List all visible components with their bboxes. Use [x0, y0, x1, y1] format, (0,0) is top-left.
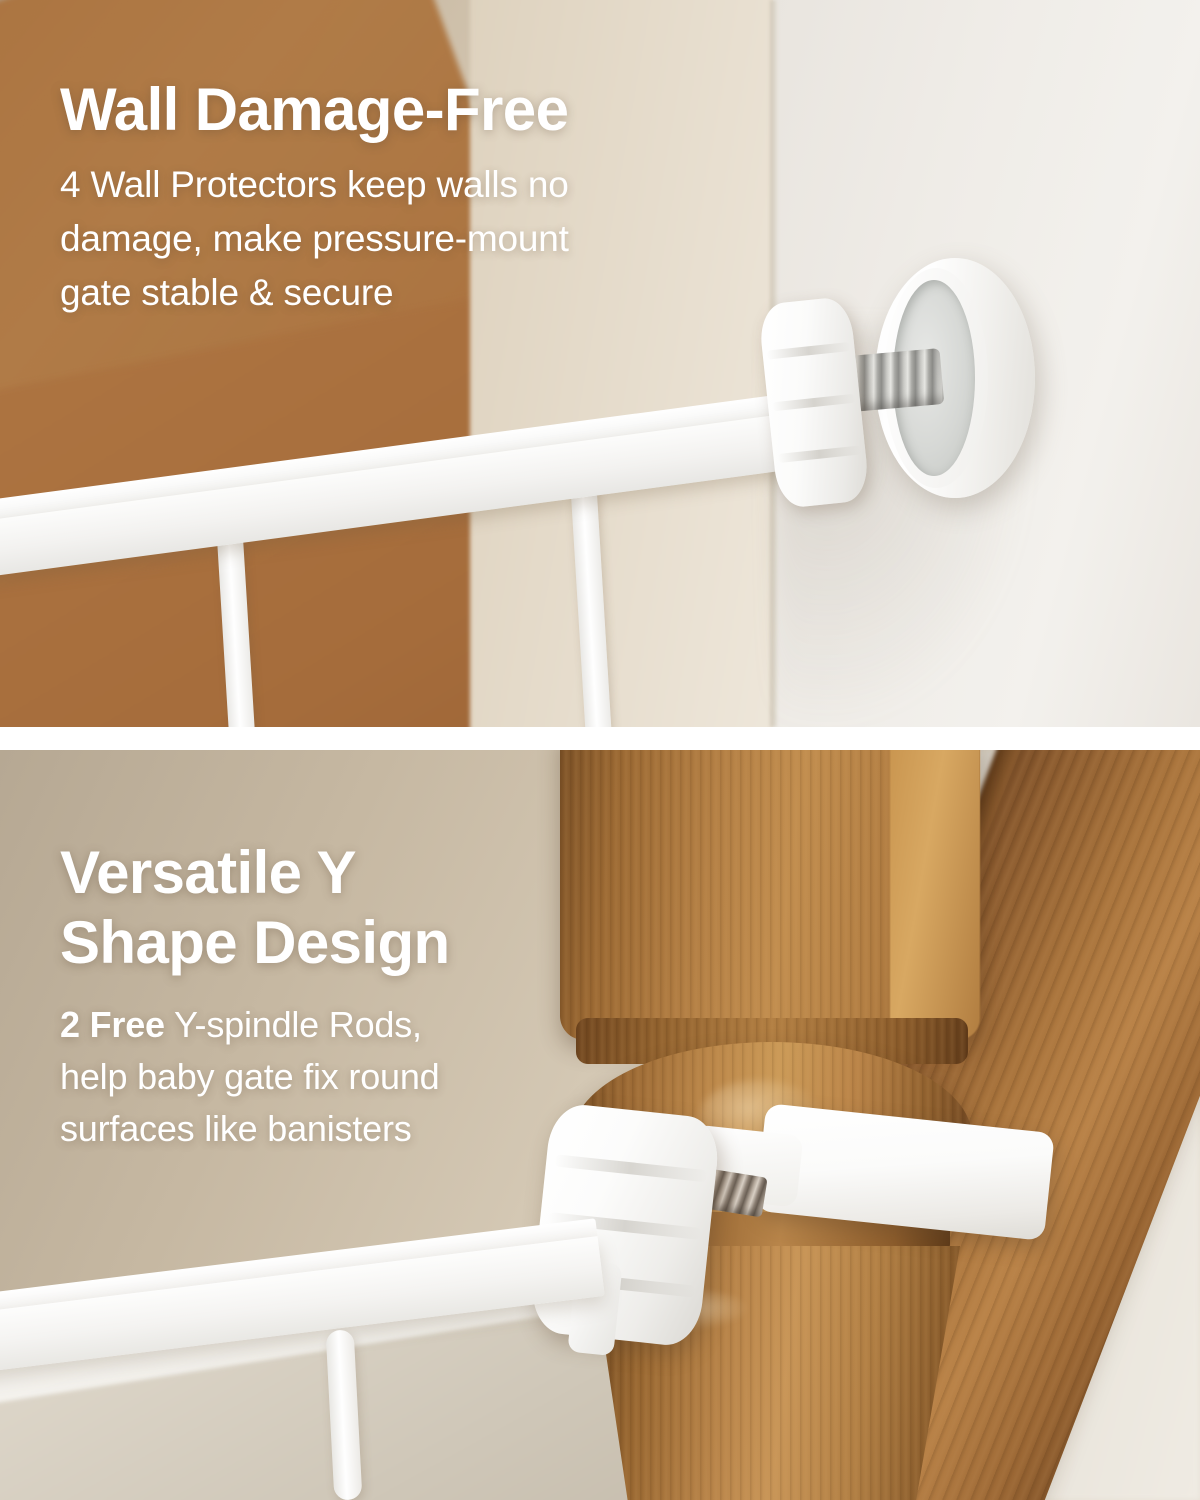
panel-wall-damage-free: Wall Damage-Free 4 Wall Protectors keep …	[0, 0, 1200, 727]
bottom-subtext: 2 Free Y-spindle Rods, help baby gate fi…	[60, 999, 660, 1154]
feature-graphic-page: Wall Damage-Free 4 Wall Protectors keep …	[0, 0, 1200, 1500]
top-text-block: Wall Damage-Free 4 Wall Protectors keep …	[60, 78, 780, 320]
top-headline: Wall Damage-Free	[60, 78, 780, 142]
threaded-bolt	[848, 348, 945, 412]
bottom-subtext-bold-lead: 2 Free	[60, 1004, 165, 1045]
top-subtext: 4 Wall Protectors keep walls no damage, …	[60, 158, 780, 320]
bottom-text-block: Versatile Y Shape Design 2 Free Y-spindl…	[60, 838, 660, 1155]
panel-divider	[0, 727, 1200, 750]
newel-post-bevel	[890, 750, 980, 1040]
bottom-headline: Versatile Y Shape Design	[60, 838, 660, 977]
